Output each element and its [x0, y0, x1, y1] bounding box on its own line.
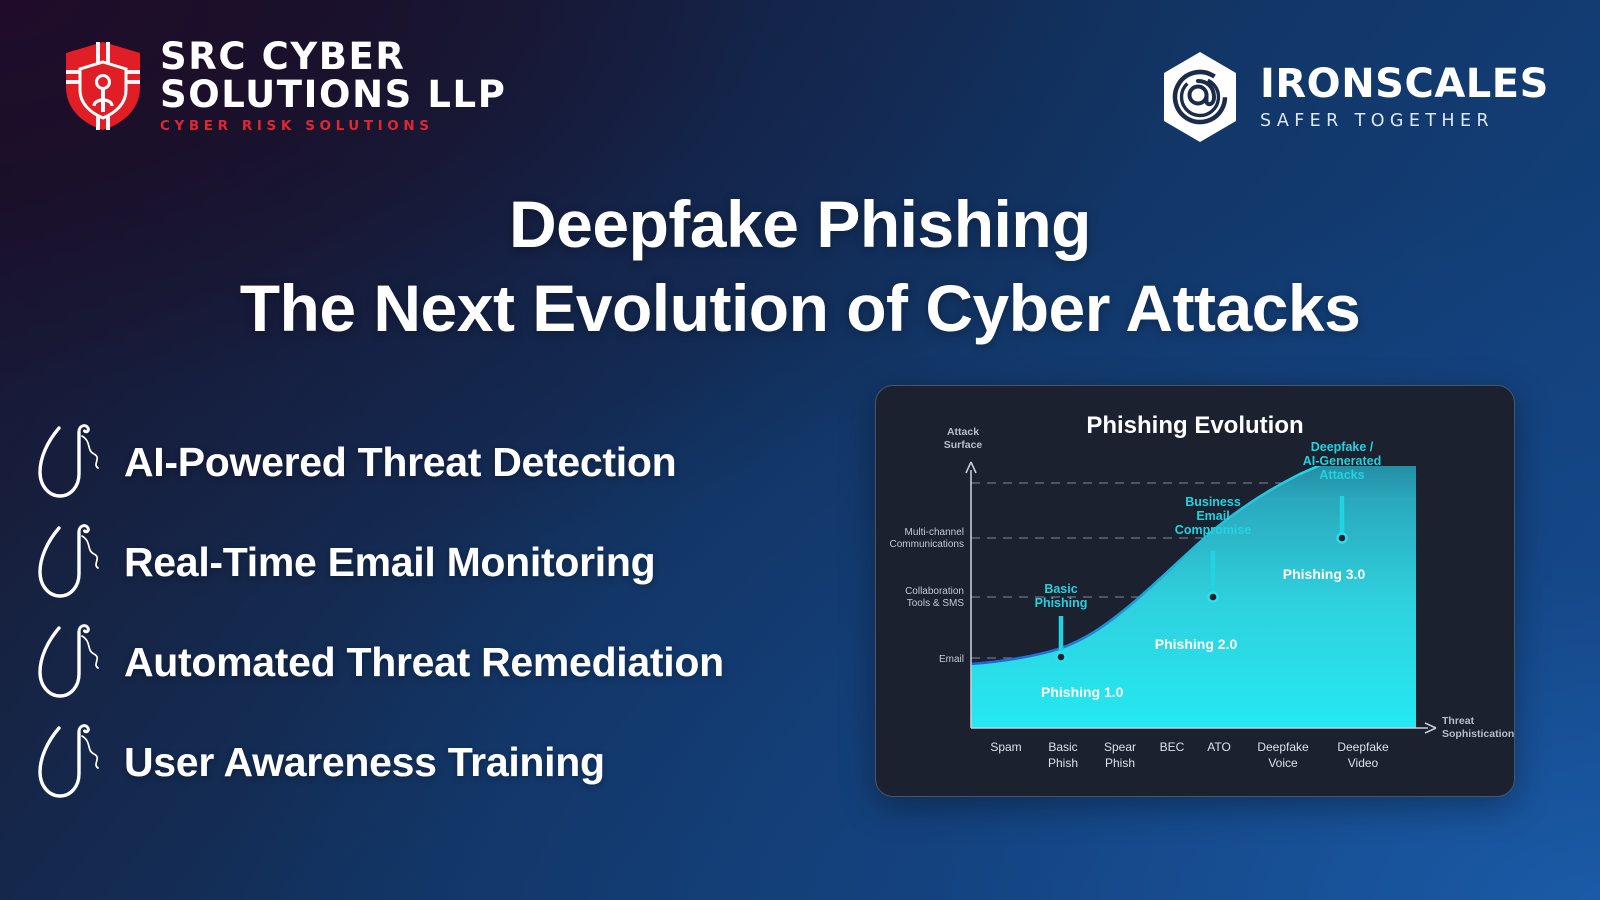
chart-y-tick-label: Tools & SMS: [907, 598, 965, 609]
chart-x-tick-label: ATO: [1207, 740, 1231, 754]
src-cyber-solutions-logo: SRC CYBER SOLUTIONS LLP CYBER RISK SOLUT…: [62, 38, 506, 134]
chart-annotation-label: AI-Generated: [1303, 454, 1382, 468]
list-item-label: Automated Threat Remediation: [124, 642, 724, 683]
ironscales-name: IRONSCALES: [1260, 64, 1549, 104]
fishing-hook-icon: [34, 720, 110, 804]
page-title: Deepfake Phishing The Next Evolution of …: [0, 182, 1600, 351]
chart-x-tick-label: Deepfake: [1257, 740, 1309, 754]
src-logo-wordmark: SRC CYBER SOLUTIONS LLP CYBER RISK SOLUT…: [160, 38, 506, 134]
chart-x-tick-label: Video: [1348, 756, 1379, 770]
chart-x-axis-title-line1: Threat: [1442, 715, 1475, 727]
chart-y-tick-labels: Multi-channel Communications Collaborati…: [890, 527, 965, 665]
page-title-line2: The Next Evolution of Cyber Attacks: [0, 266, 1600, 350]
chart-band-label-phishing-3: Phishing 3.0: [1283, 566, 1366, 582]
chart-annotation-label: Basic: [1044, 582, 1077, 596]
chart-y-tick-label: Communications: [890, 539, 964, 550]
slide-canvas: SRC CYBER SOLUTIONS LLP CYBER RISK SOLUT…: [0, 0, 1600, 900]
list-item: User Awareness Training: [34, 712, 874, 812]
ironscales-logo: IRONSCALES SAFER TOGETHER: [1158, 50, 1549, 144]
chart-band-label-phishing-1: Phishing 1.0: [1041, 684, 1124, 700]
chart-y-tick-label: Collaboration: [905, 586, 964, 597]
chart-x-tick-labels: Spam Basic Phish Spear Phish BEC ATO Dee…: [990, 740, 1389, 770]
feature-list: AI-Powered Threat Detection Real-Time Em…: [34, 412, 874, 812]
chart-x-tick-label: Deepfake: [1337, 740, 1389, 754]
chart-y-tick-label: Multi-channel: [905, 527, 964, 538]
chart-band-label-phishing-2: Phishing 2.0: [1155, 636, 1238, 652]
chart-annotation-label: Deepfake /: [1311, 440, 1374, 454]
chart-annotation-label: Email: [1196, 509, 1229, 523]
fishing-hook-icon: [34, 520, 110, 604]
chart-y-axis-title-line2: Surface: [944, 439, 983, 451]
list-item-label: Real-Time Email Monitoring: [124, 542, 655, 583]
phishing-evolution-chart: Attack Surface Threat Sophistication Mul…: [876, 386, 1515, 797]
fishing-hook-icon: [34, 620, 110, 704]
chart-x-tick-label: Spear: [1104, 740, 1136, 754]
phishing-evolution-chart-card: Phishing Evolution: [875, 385, 1515, 797]
chart-x-tick-label: Basic: [1048, 740, 1077, 754]
chart-annotation-label: Compromise: [1175, 523, 1251, 537]
src-logo-tagline: CYBER RISK SOLUTIONS: [160, 118, 506, 134]
chart-x-tick-label: Phish: [1105, 756, 1135, 770]
chart-x-tick-label: Voice: [1268, 756, 1298, 770]
list-item: Automated Threat Remediation: [34, 612, 874, 712]
chart-annotation-label: Phishing: [1035, 596, 1088, 610]
ironscales-wordmark: IRONSCALES SAFER TOGETHER: [1260, 64, 1549, 131]
chart-y-tick-label: Email: [939, 654, 964, 665]
list-item: Real-Time Email Monitoring: [34, 512, 874, 612]
src-logo-line1: SRC CYBER: [160, 38, 506, 76]
ironscales-hexagon-at-icon: [1158, 50, 1242, 144]
page-title-line1: Deepfake Phishing: [0, 182, 1600, 266]
chart-x-tick-label: Phish: [1048, 756, 1078, 770]
list-item-label: User Awareness Training: [124, 742, 605, 783]
list-item-label: AI-Powered Threat Detection: [124, 442, 676, 483]
chart-x-tick-label: BEC: [1160, 740, 1185, 754]
chart-annotation-label: Business: [1185, 495, 1241, 509]
chart-y-axis-title-line1: Attack: [947, 426, 979, 438]
ironscales-tagline: SAFER TOGETHER: [1260, 111, 1549, 131]
list-item: AI-Powered Threat Detection: [34, 412, 874, 512]
src-shield-icon: [62, 40, 144, 132]
src-logo-line2: SOLUTIONS LLP: [160, 76, 506, 114]
chart-x-tick-label: Spam: [990, 740, 1021, 754]
chart-x-axis-title-line2: Sophistication: [1442, 728, 1514, 740]
chart-annotation-label: Attacks: [1319, 468, 1364, 482]
fishing-hook-icon: [34, 420, 110, 504]
